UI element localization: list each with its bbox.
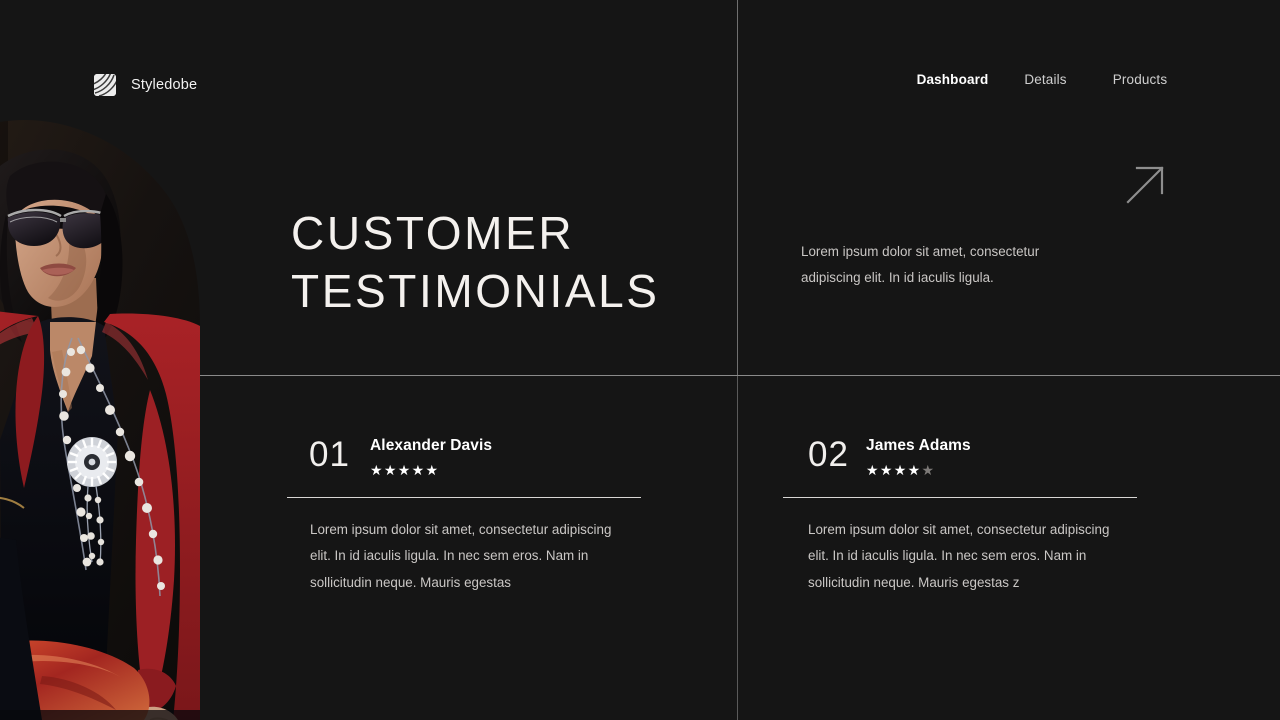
main-nav: Dashboard Details Products (906, 72, 1188, 87)
testimonial-card-1-number: 01 (287, 434, 370, 476)
testimonial-card-2-rating: ★★★★★ (866, 462, 971, 478)
testimonial-card-2-quote: Lorem ipsum dolor sit amet, consectetur … (783, 517, 1119, 596)
testimonial-card-1-rating: ★★★★★ (370, 462, 492, 478)
star-filled: ★ (412, 462, 426, 478)
portrait-illustration (0, 110, 200, 720)
star-filled: ★ (398, 462, 412, 478)
portrait-image (0, 0, 200, 720)
page-title-line-1: CUSTOMER (291, 207, 574, 259)
testimonial-card-2-header: 02 James Adams ★★★★★ (783, 434, 1137, 478)
testimonial-card-2-number: 02 (783, 434, 866, 476)
star-filled: ★ (880, 462, 894, 478)
testimonial-card-1-identity: Alexander Davis ★★★★★ (370, 434, 492, 478)
brand-name: Styledobe (131, 77, 197, 93)
star-filled: ★ (894, 462, 908, 478)
nav-slot-details: Details (999, 72, 1092, 87)
nav-item-products[interactable]: Products (1113, 72, 1167, 87)
star-empty: ★ (921, 462, 935, 478)
hero-intro-text: Lorem ipsum dolor sit amet, consectetur … (801, 239, 1061, 292)
testimonial-card-1-quote: Lorem ipsum dolor sit amet, consectetur … (287, 517, 623, 596)
star-filled: ★ (866, 462, 880, 478)
testimonial-card-1-rule (287, 497, 641, 498)
nav-item-details[interactable]: Details (1024, 72, 1066, 87)
star-filled: ★ (370, 462, 384, 478)
testimonials-slide: Styledobe Dashboard Details Products CUS… (0, 0, 1280, 720)
horizontal-divider (199, 375, 1280, 376)
brand[interactable]: Styledobe (94, 74, 197, 96)
star-filled: ★ (384, 462, 398, 478)
testimonial-card-2-name: James Adams (866, 436, 971, 456)
testimonial-card-1: 01 Alexander Davis ★★★★★ Lorem ipsum dol… (287, 434, 641, 596)
testimonial-card-1-header: 01 Alexander Davis ★★★★★ (287, 434, 641, 478)
page-title-line-2: TESTIMONIALS (291, 265, 660, 317)
testimonial-card-2: 02 James Adams ★★★★★ Lorem ipsum dolor s… (783, 434, 1137, 596)
page-title: CUSTOMER TESTIMONIALS (291, 204, 660, 320)
testimonial-card-2-identity: James Adams ★★★★★ (866, 434, 971, 478)
nav-item-dashboard[interactable]: Dashboard (917, 72, 989, 87)
star-filled: ★ (425, 462, 439, 478)
star-filled: ★ (908, 462, 922, 478)
testimonial-card-1-name: Alexander Davis (370, 436, 492, 456)
striped-square-logo-icon (94, 74, 116, 96)
testimonial-card-2-rule (783, 497, 1137, 498)
vertical-divider-bottom (737, 376, 738, 720)
arrow-up-right-icon[interactable] (1122, 162, 1168, 208)
nav-slot-products: Products (1092, 72, 1188, 87)
nav-slot-dashboard: Dashboard (906, 72, 999, 87)
vertical-divider-top (737, 0, 738, 376)
